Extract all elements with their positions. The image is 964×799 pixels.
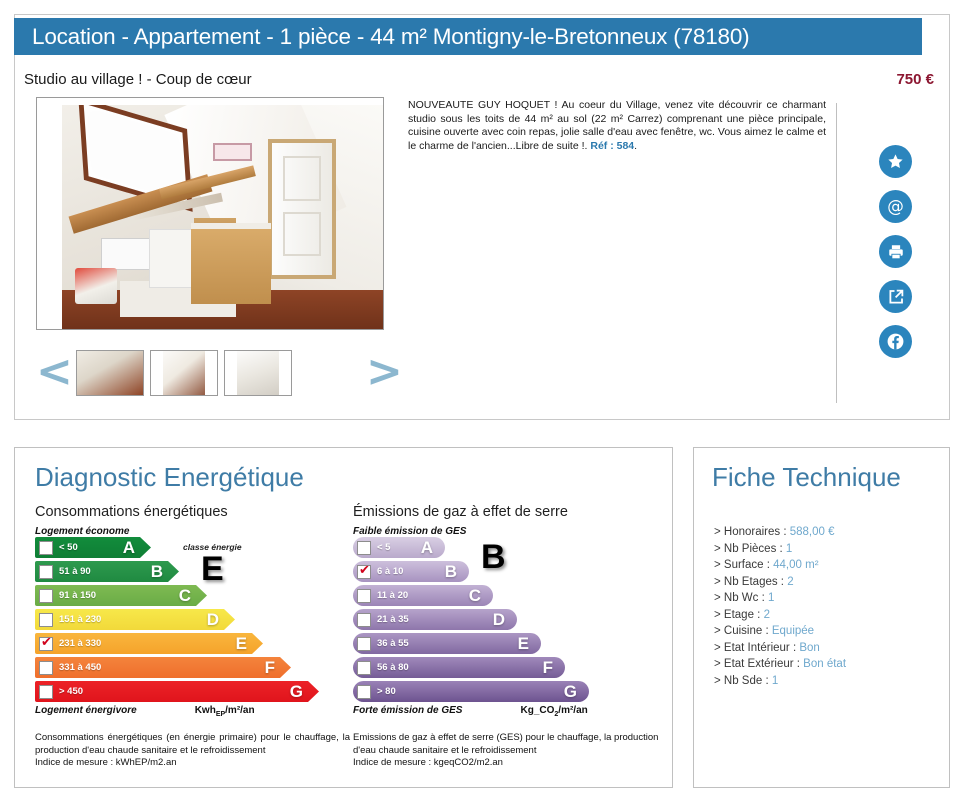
scale-checkbox-B[interactable] (39, 565, 53, 579)
page-title-bar: Location - Appartement - 1 pièce - 44 m²… (14, 18, 922, 55)
energy-consumption-chart: Consommations énergétiques Logement écon… (35, 504, 350, 770)
main-photo[interactable] (36, 97, 384, 330)
scale-checkbox-F[interactable] (39, 661, 53, 675)
scale-letter-B: B (151, 562, 163, 582)
scale-bar-A: < 5A (353, 537, 445, 558)
scale-letter-E: E (518, 634, 529, 654)
technical-sheet-item-value: 44,00 m² (773, 559, 818, 571)
ges-footnote-text: Emissions de gaz à effet de serre (GES) … (353, 732, 658, 756)
scale-row-C: 11 à 20C (353, 585, 668, 606)
technical-sheet-item-value: 1 (772, 675, 778, 687)
ges-footnote-measure: Indice de mesure : kgeqCO2/m2.an (353, 757, 503, 768)
photo-door (268, 139, 336, 279)
star-icon[interactable] (879, 145, 912, 178)
scale-checkbox-E[interactable] (357, 637, 371, 651)
scale-range-E: 231 à 330 (59, 638, 101, 649)
technical-sheet-item-label: > Cuisine : (714, 625, 772, 637)
technical-sheet-item: > Etat Intérieur : Bon (714, 640, 846, 657)
scale-row-C: 91 à 150C (35, 585, 350, 606)
ges-emissions-heading: Émissions de gaz à effet de serre (353, 504, 668, 520)
energy-top-note: Logement économe (35, 526, 350, 537)
scale-range-A: < 50 (59, 542, 78, 553)
technical-sheet-item-value: 2 (764, 609, 770, 621)
scale-range-G: > 80 (377, 686, 396, 697)
scale-checkbox-C[interactable] (357, 589, 371, 603)
scale-letter-G: G (564, 682, 577, 702)
scale-checkbox-D[interactable] (39, 613, 53, 627)
technical-sheet-item-value: Bon (799, 642, 819, 654)
technical-sheet-list: > Honoraires : 588,00 €> Nb Pièces : 1> … (714, 524, 846, 689)
technical-sheet-item: > Surface : 44,00 m² (714, 557, 846, 574)
listing-subtitle: Studio au village ! - Coup de cœur (24, 71, 252, 88)
scale-checkbox-A[interactable] (39, 541, 53, 555)
energy-diagnostic-panel: Diagnostic Energétique Consommations éne… (14, 447, 673, 788)
ges-class-badge-letter: B (481, 540, 506, 574)
scale-bar-E: 36 à 55E (353, 633, 541, 654)
facebook-icon[interactable] (879, 325, 912, 358)
technical-sheet-item-label: > Etage : (714, 609, 764, 621)
scale-bar-C: 91 à 150C (35, 585, 207, 606)
energy-class-badge: classe énergie E (183, 542, 242, 586)
scale-range-F: 331 à 450 (59, 662, 101, 673)
subtitle-row: Studio au village ! - Coup de cœur 750 € (24, 66, 934, 92)
technical-sheet-item-label: > Surface : (714, 559, 773, 571)
technical-sheet-item-label: > Nb Etages : (714, 576, 787, 588)
scale-checkbox-G[interactable] (357, 685, 371, 699)
technical-sheet-item-label: > Etat Extérieur : (714, 658, 803, 670)
listing-price: 750 € (896, 71, 934, 88)
scale-letter-G: G (290, 682, 303, 702)
photo-wall-picture (213, 143, 252, 161)
description-period: . (634, 140, 637, 152)
ges-bars: < 5A6 à 10B11 à 20C21 à 35D36 à 55E56 à … (353, 537, 668, 702)
email-at-icon[interactable]: @ (879, 190, 912, 223)
printer-icon[interactable] (879, 235, 912, 268)
ges-unit-label: Kg_CO2/m²/an (520, 705, 587, 718)
photo-door-panel-bottom (283, 212, 321, 257)
ges-class-badge: B (481, 540, 506, 574)
scale-checkbox-A[interactable] (357, 541, 371, 555)
scale-row-G: > 80G (353, 681, 668, 702)
scale-bar-D: 21 à 35D (353, 609, 517, 630)
action-icon-rail: @ (879, 145, 915, 370)
vertical-divider (836, 103, 837, 403)
technical-sheet-item-label: > Nb Pièces : (714, 543, 786, 555)
ges-axis-row: Forte émission de GES Kg_CO2/m²/an (353, 705, 668, 718)
energy-footnote: Consommations énergétiques (en énergie p… (35, 732, 350, 770)
technical-sheet-item: > Etat Extérieur : Bon état (714, 656, 846, 673)
scale-range-C: 11 à 20 (377, 590, 408, 601)
scale-row-F: 56 à 80F (353, 657, 668, 678)
technical-sheet-item: > Nb Etages : 2 (714, 574, 846, 591)
energy-footnote-measure: Indice de mesure : kWhEP/m2.an (35, 757, 177, 768)
listing-page: Location - Appartement - 1 pièce - 44 m²… (0, 0, 964, 799)
scale-range-B: 6 à 10 (377, 566, 403, 577)
scale-checkbox-B[interactable] (357, 565, 371, 579)
energy-scale: Logement économe < 50A51 à 90B91 à 150C1… (35, 526, 350, 718)
scale-bar-A: < 50A (35, 537, 151, 558)
scale-checkbox-G[interactable] (39, 685, 53, 699)
scale-letter-F: F (543, 658, 553, 678)
scale-range-D: 21 à 35 (377, 614, 409, 625)
svg-text:@: @ (887, 197, 904, 216)
scale-checkbox-E[interactable] (39, 637, 53, 651)
scale-row-D: 151 à 230D (35, 609, 350, 630)
technical-sheet-item: > Nb Pièces : 1 (714, 541, 846, 558)
technical-sheet-item: > Etage : 2 (714, 607, 846, 624)
technical-sheet-item: > Honoraires : 588,00 € (714, 524, 846, 541)
scale-range-F: 56 à 80 (377, 662, 409, 673)
scale-row-G: > 450G (35, 681, 350, 702)
scale-checkbox-D[interactable] (357, 613, 371, 627)
scale-range-B: 51 à 90 (59, 566, 91, 577)
photo-fridge (149, 229, 194, 288)
technical-sheet-panel: Fiche Technique > Honoraires : 588,00 €>… (693, 447, 950, 788)
technical-sheet-item-label: > Nb Sde : (714, 675, 772, 687)
scale-checkbox-F[interactable] (357, 661, 371, 675)
ges-emissions-chart: Émissions de gaz à effet de serre Faible… (353, 504, 668, 770)
technical-sheet-item: > Nb Sde : 1 (714, 673, 846, 690)
scale-letter-F: F (265, 658, 275, 678)
energy-axis-row: Logement énergivore KwhEP/m²/an (35, 705, 350, 718)
gallery-prev-arrow-icon[interactable]: < (36, 352, 66, 396)
technical-sheet-item-label: > Nb Wc : (714, 592, 768, 604)
scale-row-E: 231 à 330E (35, 633, 350, 654)
scale-letter-A: A (421, 538, 433, 558)
thumbnail-2[interactable] (150, 350, 218, 396)
scale-row-A: < 5A (353, 537, 668, 558)
energy-consumption-heading: Consommations énergétiques (35, 504, 350, 520)
scale-letter-D: D (493, 610, 505, 630)
technical-sheet-item-value: 588,00 € (790, 526, 835, 538)
scale-bar-G: > 450G (35, 681, 319, 702)
ges-scale: Faible émission de GES < 5A6 à 10B11 à 2… (353, 526, 668, 718)
thumbnail-2-pad-right (205, 351, 217, 395)
thumbnail-3-pad-left (225, 351, 237, 395)
energy-bottom-note: Logement énergivore (35, 705, 137, 718)
external-link-icon[interactable] (879, 280, 912, 313)
technical-sheet-title: Fiche Technique (712, 462, 901, 493)
photo-door-panel-top (283, 156, 321, 201)
scale-row-E: 36 à 55E (353, 633, 668, 654)
thumbnail-1[interactable] (76, 350, 144, 396)
energy-unit-label: KwhEP/m²/an (195, 705, 255, 718)
energy-footnote-text: Consommations énergétiques (en énergie p… (35, 732, 350, 756)
photo-stove (101, 238, 153, 270)
technical-sheet-item-value: Equipée (772, 625, 814, 637)
technical-sheet-item-value: 2 (787, 576, 793, 588)
scale-checkbox-C[interactable] (39, 589, 53, 603)
photo-bag (75, 268, 117, 304)
scale-range-E: 36 à 55 (377, 638, 409, 649)
technical-sheet-item: > Nb Wc : 1 (714, 590, 846, 607)
technical-sheet-item-value: Bon état (803, 658, 846, 670)
thumbnail-3-pad-right (279, 351, 291, 395)
ges-bottom-note: Forte émission de GES (353, 705, 462, 718)
scale-row-D: 21 à 35D (353, 609, 668, 630)
ges-footnote: Emissions de gaz à effet de serre (GES) … (353, 732, 668, 770)
description-reference: Réf : 584 (590, 140, 634, 152)
energy-class-badge-letter: E (183, 552, 242, 586)
energy-diagnostic-title: Diagnostic Energétique (35, 462, 304, 493)
thumbnail-2-pad-left (151, 351, 163, 395)
scale-range-A: < 5 (377, 542, 390, 553)
scale-bar-C: 11 à 20C (353, 585, 493, 606)
scale-letter-A: A (123, 538, 135, 558)
scale-range-C: 91 à 150 (59, 590, 96, 601)
scale-range-D: 151 à 230 (59, 614, 101, 625)
technical-sheet-item-value: 1 (786, 543, 792, 555)
main-photo-image (62, 105, 384, 330)
listing-description: NOUVEAUTE GUY HOQUET ! Au coeur du Villa… (408, 99, 826, 153)
gallery-next-arrow-icon[interactable]: > (366, 352, 396, 396)
scale-bar-G: > 80G (353, 681, 589, 702)
scale-range-G: > 450 (59, 686, 83, 697)
photo-gallery: < > (36, 348, 396, 400)
gallery-thumbnails (76, 350, 292, 396)
technical-sheet-item-label: > Etat Intérieur : (714, 642, 799, 654)
technical-sheet-item-value: 1 (768, 592, 774, 604)
scale-letter-D: D (207, 610, 219, 630)
scale-letter-B: B (445, 562, 457, 582)
scale-bar-B: 6 à 10B (353, 561, 469, 582)
scale-bar-F: 331 à 450F (35, 657, 291, 678)
thumbnail-3[interactable] (224, 350, 292, 396)
scale-letter-C: C (179, 586, 191, 606)
page-title: Location - Appartement - 1 pièce - 44 m²… (32, 24, 749, 50)
scale-bar-F: 56 à 80F (353, 657, 565, 678)
scale-row-B: 6 à 10B (353, 561, 668, 582)
technical-sheet-item: > Cuisine : Equipée (714, 623, 846, 640)
ges-top-note: Faible émission de GES (353, 526, 668, 537)
scale-bar-B: 51 à 90B (35, 561, 179, 582)
scale-bar-D: 151 à 230D (35, 609, 235, 630)
photo-counter (191, 223, 272, 304)
scale-row-F: 331 à 450F (35, 657, 350, 678)
scale-letter-C: C (469, 586, 481, 606)
technical-sheet-item-label: > Honoraires : (714, 526, 790, 538)
scale-bar-E: 231 à 330E (35, 633, 263, 654)
scale-letter-E: E (236, 634, 247, 654)
